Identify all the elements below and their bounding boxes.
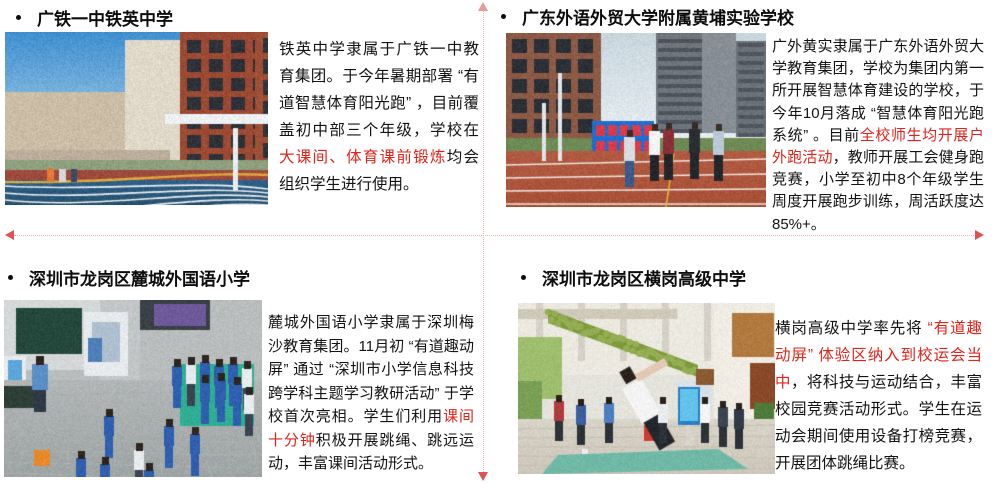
- quadrant-2-title-text: 广东外语外贸大学附属黄埔实验学校: [522, 4, 794, 29]
- body-text-run: ，将科技与运动结合，丰富校园竞赛活动形式。学生在运动会期间使用设备打榜竞赛，开展…: [775, 374, 982, 472]
- quadrant-4-paragraph: 横岗高级中学率先将 “有道趣动屏” 体验区纳入到校运会当中，将科技与运动结合，丰…: [775, 315, 982, 477]
- slide-root: 广铁一中铁英中学 铁英中学隶属于广铁一中教育集团。于今年暑期部署 “有道智慧体育…: [0, 0, 1000, 484]
- quadrant-3-title: 深圳市龙岗区麓城外国语小学: [8, 265, 250, 290]
- quadrant-2-photo: [506, 33, 766, 207]
- quadrant-2: 广东外语外贸大学附属黄埔实验学校 广外黄实隶属于广东外语外贸大学教育集团，学校为…: [483, 0, 1000, 235]
- quadrant-2-paragraph: 广外黄实隶属于广东外语外贸大学教育集团，学校为集团内第一所开展智慧体育建设的学校…: [772, 36, 984, 236]
- quadrant-3-photo: [4, 300, 262, 477]
- quadrant-1-title: 广铁一中铁英中学: [16, 5, 173, 30]
- bullet-icon: [16, 15, 21, 20]
- quadrant-2-title: 广东外语外贸大学附属黄埔实验学校: [501, 4, 794, 29]
- body-text-run: 铁英中学隶属于广铁一中教育集团。于今年暑期部署 “有道智慧体育阳光跑” ，目前覆…: [279, 41, 479, 139]
- quadrant-1-paragraph: 铁英中学隶属于广铁一中教育集团。于今年暑期部署 “有道智慧体育阳光跑” ，目前覆…: [279, 36, 479, 198]
- quadrant-3: 深圳市龙岗区麓城外国语小学 麓城外国语小学隶属于深圳梅沙教育集团。11月初 “有…: [0, 235, 483, 484]
- quadrant-4-title-text: 深圳市龙岗区横岗高级中学: [542, 265, 746, 290]
- quadrant-1-photo: [5, 32, 268, 205]
- quadrant-3-title-text: 深圳市龙岗区麓城外国语小学: [29, 265, 250, 290]
- quadrant-1-title-text: 广铁一中铁英中学: [37, 5, 173, 30]
- body-text-run: 横岗高级中学率先将: [775, 320, 928, 337]
- bullet-icon: [501, 14, 506, 19]
- quadrant-4: 深圳市龙岗区横岗高级中学 横岗高级中学率先将 “有道趣动屏” 体验区纳入到校运会…: [483, 235, 1000, 484]
- bullet-icon: [521, 275, 526, 280]
- highlighted-text: 大课间、体育课前锻炼: [279, 149, 447, 166]
- quadrant-1: 广铁一中铁英中学 铁英中学隶属于广铁一中教育集团。于今年暑期部署 “有道智慧体育…: [0, 0, 483, 235]
- bullet-icon: [8, 275, 13, 280]
- quadrant-4-photo: [518, 303, 775, 474]
- quadrant-4-title: 深圳市龙岗区横岗高级中学: [521, 265, 746, 290]
- quadrant-3-paragraph: 麓城外国语小学隶属于深圳梅沙教育集团。11月初 “有道趣动屏” 通过 “深圳市小…: [268, 311, 474, 476]
